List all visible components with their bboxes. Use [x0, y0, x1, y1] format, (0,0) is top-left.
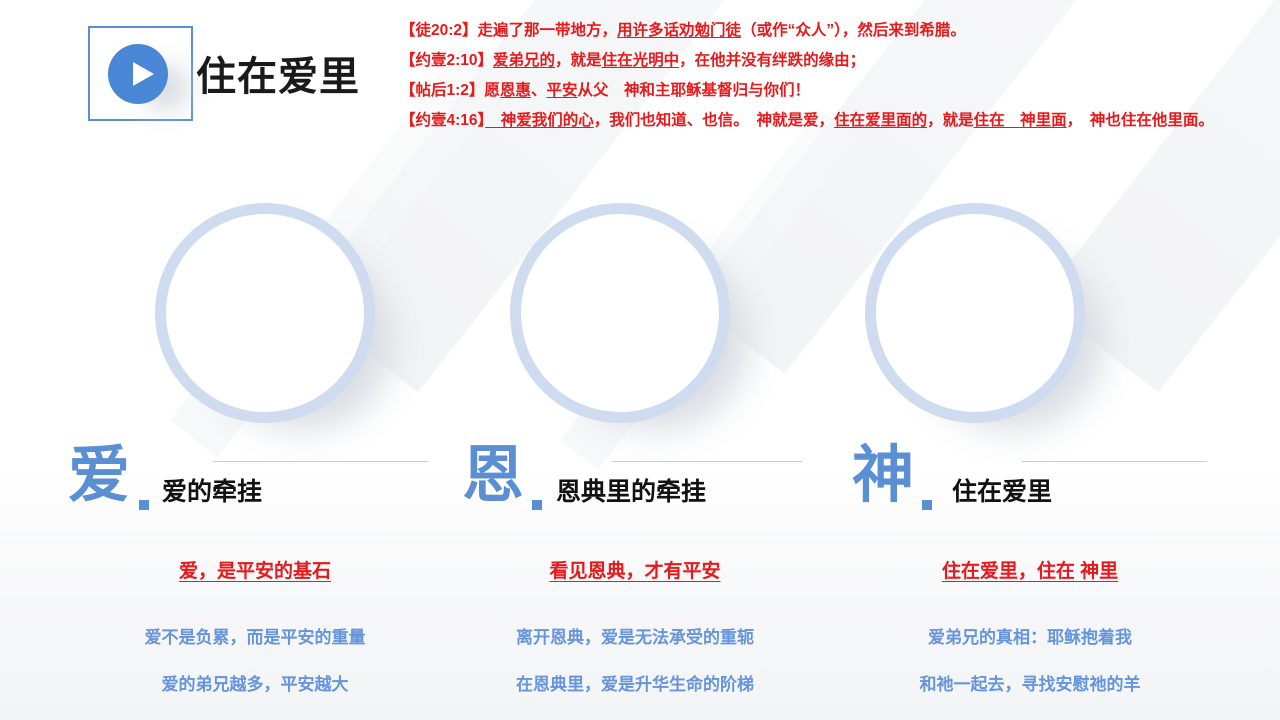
- column-heading-row: 恩 恩典里的牵挂: [440, 440, 830, 518]
- scripture-text: （或作“众人”），然后来到希腊。: [741, 22, 966, 39]
- scripture-emphasis: 用许多话劝勉门徒: [617, 22, 741, 39]
- scripture-reference: 【徒20:2】: [400, 22, 478, 39]
- column-body-line: 在恩典里，爱是升华生命的阶梯: [440, 670, 830, 695]
- column-heading-row: 神 住在爱里: [830, 440, 1230, 518]
- photo-3-good-shepherd: [865, 203, 1085, 423]
- column-body-line: 爱不是负累，而是平安的重量: [60, 623, 450, 648]
- column-body-line: 和祂一起去，寻找安慰祂的羊: [830, 670, 1230, 695]
- scripture-line-4: 【约壹4:16】 神爱我们的心，我们也知道、也信。 神就是爱，住在爱里面的，就是…: [400, 108, 1230, 134]
- scripture-line-1: 【徒20:2】走遍了那一带地方，用许多话劝勉门徒（或作“众人”），然后来到希腊。: [400, 18, 1230, 44]
- photo-2-stairway-to-heaven: [510, 203, 730, 423]
- scripture-emphasis: 神爱我们的心: [485, 112, 594, 129]
- scripture-text: ，在他并没有绊跌的缘由；: [679, 52, 865, 69]
- bullet-square-icon: [532, 500, 542, 510]
- column-body-line: 爱弟兄的真相：耶稣抱着我: [830, 623, 1230, 648]
- photo-ring: [510, 203, 730, 423]
- photo-1-paul-preaching: [155, 203, 375, 423]
- scripture-emphasis: 住在光明中: [602, 52, 680, 69]
- column-red-headline: 住在爱里，住在 神里: [830, 556, 1230, 583]
- column-body-line: 离开恩典，爱是无法承受的重轭: [440, 623, 830, 648]
- scripture-text: ，就是: [927, 112, 974, 129]
- scripture-text: 从父 神和主耶稣基督归与你们！: [577, 82, 810, 99]
- scripture-emphasis: 爱弟兄的: [493, 52, 555, 69]
- heading-rule: [612, 461, 802, 462]
- scripture-emphasis: 住在爱里面的: [834, 112, 927, 129]
- bullet-square-icon: [922, 500, 932, 510]
- page-title: 住在爱里: [196, 44, 360, 102]
- slide-header: 住在爱里 【徒20:2】走遍了那一带地方，用许多话劝勉门徒（或作“众人”），然后…: [0, 0, 1280, 180]
- scripture-reference: 【约壹4:16】: [400, 112, 485, 129]
- column-red-headline: 爱，是平安的基石: [60, 556, 450, 583]
- column-big-char: 神: [852, 438, 914, 514]
- column-subtitle: 住在爱里: [952, 472, 1052, 508]
- scripture-emphasis: 平安: [546, 82, 577, 99]
- photo-ring: [865, 203, 1085, 423]
- scripture-text: 愿: [484, 82, 500, 99]
- scripture-reference: 【约壹2:10】: [400, 52, 493, 69]
- scripture-reference: 【帖后1:2】: [400, 82, 484, 99]
- heading-rule: [1022, 461, 1207, 462]
- column-big-char: 爱: [68, 438, 130, 514]
- scripture-line-2: 【约壹2:10】爱弟兄的，就是住在光明中，在他并没有绊跌的缘由；: [400, 48, 1230, 74]
- scripture-block: 【徒20:2】走遍了那一带地方，用许多话劝勉门徒（或作“众人”），然后来到希腊。…: [400, 18, 1230, 138]
- column-god: 神 住在爱里 住在爱里，住在 神里 爱弟兄的真相：耶稣抱着我 和祂一起去，寻找安…: [830, 440, 1230, 695]
- logo: [88, 26, 193, 121]
- column-big-char: 恩: [462, 438, 524, 514]
- column-subtitle: 恩典里的牵挂: [556, 472, 706, 508]
- scripture-text: ， 神也住在他里面。: [1067, 112, 1214, 129]
- column-subtitle: 爱的牵挂: [162, 472, 262, 508]
- scripture-emphasis: 住在 神里面: [974, 112, 1067, 129]
- play-button-circle: [108, 44, 168, 104]
- scripture-text: ，就是: [555, 52, 602, 69]
- column-love: 爱 爱的牵挂 爱，是平安的基石 爱不是负累，而是平安的重量 爱的弟兄越多，平安越…: [60, 440, 450, 695]
- play-icon: [133, 62, 154, 86]
- scripture-text: ，我们也知道、也信。 神就是爱，: [594, 112, 834, 129]
- scripture-line-3: 【帖后1:2】愿恩惠、平安从父 神和主耶稣基督归与你们！: [400, 78, 1230, 104]
- photo-ring: [155, 203, 375, 423]
- scripture-text: 走遍了那一带地方，: [478, 22, 618, 39]
- scripture-emphasis: 恩惠: [500, 82, 531, 99]
- column-red-headline: 看见恩典，才有平安: [440, 556, 830, 583]
- column-grace: 恩 恩典里的牵挂 看见恩典，才有平安 离开恩典，爱是无法承受的重轭 在恩典里，爱…: [440, 440, 830, 695]
- scripture-text: 、: [531, 82, 547, 99]
- column-body-line: 爱的弟兄越多，平安越大: [60, 670, 450, 695]
- heading-rule: [213, 461, 428, 462]
- bullet-square-icon: [139, 500, 149, 510]
- column-heading-row: 爱 爱的牵挂: [60, 440, 450, 518]
